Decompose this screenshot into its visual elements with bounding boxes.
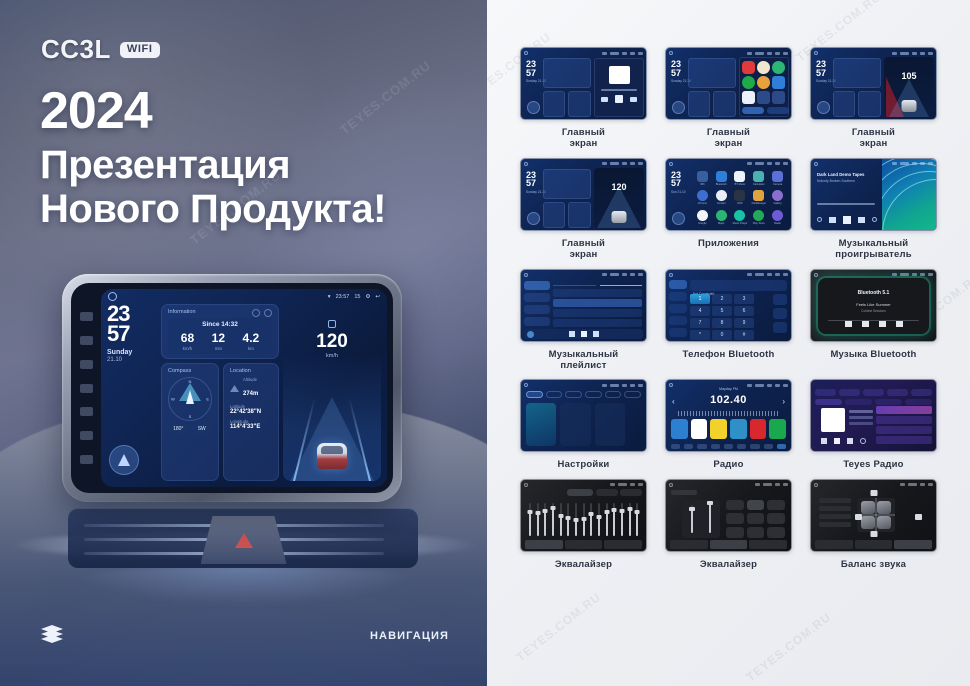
tab-recent[interactable] — [553, 279, 596, 286]
album-art — [821, 408, 845, 432]
head-unit-screen[interactable]: ▾ 23:57 15 ⚙ ↩ 23 57 Sunday 21.10 — [101, 289, 387, 487]
app-icon-youtube[interactable] — [742, 61, 755, 74]
speed-value: 105 — [884, 71, 934, 81]
app-item[interactable]: DSP — [734, 190, 745, 205]
gear-icon[interactable]: ⚙ — [365, 294, 370, 300]
thumbnail-bt-phone[interactable]: Not Connected 1 2 3 4 5 6 7 8 9 * 0 — [665, 269, 792, 342]
toolbar-list[interactable] — [711, 444, 720, 449]
eq-band[interactable] — [527, 499, 533, 538]
playlist-row[interactable] — [553, 319, 642, 327]
radio-station-name: Mayday FM — [666, 387, 791, 391]
tab-sound[interactable] — [565, 391, 582, 398]
navigation-fab[interactable] — [527, 101, 540, 114]
app-item[interactable]: Camera — [772, 171, 783, 186]
preset-classic[interactable] — [726, 513, 744, 524]
prev-icon[interactable] — [829, 217, 836, 223]
app-icon-equalizer[interactable] — [734, 190, 745, 201]
hud-icon — [328, 320, 336, 328]
lower-widgets-row: Compass N E S W — [161, 363, 279, 481]
thumbnail-home-drive-red[interactable]: 2357Sunday 21.10 105 — [810, 47, 937, 120]
dock-button-left[interactable] — [742, 107, 764, 114]
gallery-caption: Teyes Радио — [843, 459, 903, 470]
gallery-item[interactable]: Mayday FM 102.40 ‹ › — [656, 379, 801, 470]
app-item[interactable]: Contact — [716, 190, 727, 205]
toolbar-band[interactable] — [671, 444, 680, 449]
app-icon-google[interactable] — [697, 210, 708, 221]
next-icon[interactable] — [847, 438, 853, 444]
app-icon-chrome[interactable] — [697, 190, 708, 201]
navigation-fab[interactable] — [109, 445, 139, 475]
caption-line-2: экран — [562, 138, 605, 149]
gallery-item[interactable]: 2357Sunday 21.10 105 Главный экран — [801, 47, 946, 150]
gallery-item[interactable]: 2357Sunday 21.10 120 Главный экран — [511, 158, 656, 261]
tab-system[interactable] — [624, 391, 641, 398]
equalizer-mode-bar[interactable] — [815, 540, 932, 549]
toolbar-af[interactable] — [750, 444, 759, 449]
playlist-category-artists[interactable] — [524, 317, 550, 326]
eq-mode-eq[interactable] — [815, 540, 853, 549]
preset-tile[interactable] — [730, 419, 747, 439]
next-icon[interactable] — [896, 321, 903, 327]
preset-vocal[interactable] — [747, 513, 765, 524]
keypad-key[interactable]: 6 — [734, 306, 754, 316]
preset-tile[interactable] — [750, 419, 767, 439]
filter-pop[interactable] — [845, 399, 872, 405]
toolbar-active[interactable] — [777, 444, 786, 449]
repeat-icon[interactable] — [872, 217, 877, 222]
equalizer-mode-bar[interactable] — [525, 540, 642, 549]
hardkey-back[interactable] — [80, 407, 93, 416]
thumbnail-radio[interactable]: Mayday FM 102.40 ‹ › — [665, 379, 792, 452]
app-item[interactable]: Play Store — [753, 210, 765, 225]
preset-rock[interactable] — [747, 500, 765, 511]
app-drawer-grid[interactable]: Wifi Bluetooth BT Music Calculator Camer… — [694, 170, 786, 226]
eq-band[interactable] — [550, 499, 556, 538]
home-icon — [524, 483, 528, 487]
head-unit-side-keys[interactable] — [71, 289, 101, 487]
tab-categories[interactable] — [839, 389, 860, 396]
tab-display[interactable] — [546, 391, 563, 398]
balance-cabin-map[interactable] — [857, 498, 895, 532]
playlist-category-tracks[interactable] — [524, 281, 550, 290]
thumb-location-card — [858, 91, 881, 117]
toolbar-settings[interactable] — [764, 444, 773, 449]
keypad-key[interactable]: 9 — [734, 318, 754, 328]
gallery-caption: Главный экран — [852, 127, 895, 150]
caption-line-2: плейлист — [549, 360, 619, 371]
app-icon-maps[interactable] — [772, 61, 785, 74]
next-icon[interactable] — [630, 97, 637, 102]
hardkey-volume-up[interactable] — [80, 455, 93, 464]
hardkey-volume-down[interactable] — [80, 431, 93, 440]
app-item[interactable]: Maps — [716, 210, 727, 225]
home-icon — [669, 483, 673, 487]
navigation-fab[interactable] — [817, 101, 830, 114]
seat-front-left[interactable] — [861, 501, 875, 514]
thumbnail-equalizer-simple[interactable] — [665, 479, 792, 552]
app-icon-music-player[interactable] — [734, 210, 745, 221]
prev-icon[interactable] — [821, 438, 827, 444]
thumbnail-home-drive-blue[interactable]: 2357Sunday 21.10 120 — [520, 158, 647, 231]
settings-cards[interactable] — [526, 403, 641, 446]
thumbnail-equalizer-graphic[interactable] — [520, 479, 647, 552]
thumb-compass-card — [543, 91, 565, 117]
eq-mode-sub[interactable] — [565, 540, 603, 549]
gallery-caption: Главный экран — [562, 238, 605, 261]
gallery-item[interactable]: Настройки — [511, 379, 656, 470]
station-row[interactable] — [876, 406, 932, 414]
favorite-icon[interactable] — [773, 294, 787, 305]
tab-apps[interactable] — [585, 391, 602, 398]
bt-phone-sidebar[interactable] — [669, 280, 687, 337]
balance-preset-front[interactable] — [819, 506, 851, 511]
pause-icon[interactable] — [843, 216, 851, 224]
settings-card-traffic[interactable] — [560, 403, 590, 446]
app-icon-browser[interactable] — [757, 61, 770, 74]
preset-tile[interactable] — [769, 419, 786, 439]
teyes-radio-station-list[interactable] — [876, 406, 932, 446]
toolbar-rds[interactable] — [724, 444, 733, 449]
thumbnail-teyes-radio[interactable] — [810, 379, 937, 452]
playlist-now-playing-bar[interactable] — [524, 329, 643, 339]
app-item[interactable]: Gallery — [772, 190, 783, 205]
stop-icon[interactable] — [879, 321, 886, 327]
location-widget[interactable]: Location Altitude 274m — [223, 363, 279, 481]
preset-bass[interactable] — [767, 527, 785, 538]
tab-countries[interactable] — [887, 389, 908, 396]
app-item[interactable]: Bluetooth — [716, 171, 727, 186]
balance-preset-rear[interactable] — [819, 514, 851, 519]
sidebar-settings-icon[interactable] — [669, 328, 687, 337]
app-item[interactable]: FileManager — [752, 190, 766, 205]
tab-wlan[interactable] — [526, 391, 543, 398]
app-item[interactable]: Radio — [772, 210, 783, 225]
playlist-tabs[interactable] — [553, 279, 642, 286]
app-icon-camera[interactable] — [772, 171, 783, 182]
mountain-icon — [230, 385, 239, 392]
pause-icon[interactable] — [581, 331, 587, 337]
app-icon-calculator[interactable] — [753, 171, 764, 182]
hardkey-home[interactable] — [80, 384, 93, 393]
app-item[interactable]: BT Music — [734, 171, 745, 186]
stat-item: 68 km/h — [181, 332, 194, 351]
app-icon-bluetooth[interactable] — [716, 171, 727, 182]
headline-line-1: Презентация — [40, 143, 386, 188]
eq-mode-fade[interactable] — [604, 540, 642, 549]
keypad-key[interactable]: 4 — [690, 306, 710, 316]
balance-preset-all[interactable] — [819, 522, 851, 527]
settings-card-wlan[interactable] — [526, 403, 556, 446]
eq-band[interactable] — [558, 499, 564, 538]
app-icon-wifi[interactable] — [697, 171, 708, 182]
app-icon-phone[interactable] — [757, 91, 770, 104]
preset-pop[interactable] — [726, 500, 744, 511]
app-icon-spotify[interactable] — [742, 76, 755, 89]
eq-band[interactable] — [611, 499, 617, 538]
thumbnail-settings[interactable] — [520, 379, 647, 452]
toolbar-loc[interactable] — [697, 444, 706, 449]
tab-storage[interactable] — [605, 391, 622, 398]
settings-tabs[interactable] — [526, 391, 641, 398]
eq-mode-fade[interactable] — [894, 540, 932, 549]
eq-mode-eq[interactable] — [670, 540, 708, 549]
speed-value: 120 — [283, 332, 381, 351]
home-icon — [669, 51, 673, 55]
dial-keypad[interactable]: 1 2 3 4 5 6 7 8 9 * 0 # — [690, 294, 754, 340]
preset-tile[interactable] — [691, 419, 708, 439]
gallery-grid: 2357Sunday 21.10 Главный — [487, 47, 970, 570]
transport-controls[interactable] — [817, 216, 877, 224]
eq-band[interactable] — [581, 499, 587, 538]
location-longitude: Longitude 114°4'33"E — [230, 419, 272, 430]
thumb-progress — [601, 89, 637, 91]
hazard-light-button[interactable] — [201, 516, 287, 564]
play-pause-icon[interactable] — [862, 321, 869, 327]
favorite-icon[interactable] — [860, 438, 866, 444]
backspace-icon[interactable] — [773, 308, 787, 319]
gallery-item[interactable]: Not Connected 1 2 3 4 5 6 7 8 9 * 0 — [656, 269, 801, 372]
eq-preset-selector[interactable] — [567, 489, 593, 496]
bt-phone-actions[interactable] — [773, 294, 787, 333]
preset-custom[interactable] — [726, 527, 744, 538]
seat-rear-left[interactable] — [861, 516, 875, 529]
app-icon-bluetooth-music[interactable] — [734, 171, 745, 182]
eq-preset-reset[interactable] — [620, 489, 642, 496]
information-refresh-icon[interactable] — [252, 309, 260, 317]
app-item[interactable]: Google — [697, 210, 708, 225]
prev-icon[interactable] — [601, 97, 608, 102]
gallery-item[interactable]: Музыкальный плейлист — [511, 269, 656, 372]
prev-icon[interactable] — [845, 321, 852, 327]
eq-mode-fade[interactable] — [749, 540, 787, 549]
transport-controls[interactable] — [818, 321, 929, 327]
hardkey-prev[interactable] — [80, 312, 93, 321]
car-dashboard-illustration: ▾ 23:57 15 ⚙ ↩ 23 57 Sunday 21.10 — [0, 256, 487, 686]
prev-icon[interactable] — [569, 331, 575, 337]
preset-buttons[interactable] — [726, 500, 785, 538]
eq-band[interactable] — [588, 499, 594, 538]
balance-arrow-right[interactable] — [915, 514, 922, 520]
app-item[interactable]: Wifi — [697, 171, 708, 186]
product-logo: CC3L WIFI — [41, 34, 160, 65]
headline-block: 2024 Презентация Нового Продукта! — [40, 84, 386, 232]
product-model-text: CC3L — [41, 34, 111, 65]
balance-presets[interactable] — [819, 498, 851, 530]
keypad-key[interactable]: 2 — [712, 294, 732, 304]
thumb-info-card — [833, 58, 881, 88]
gallery-item[interactable]: Эквалайзер — [511, 479, 656, 570]
stop-icon[interactable] — [834, 438, 840, 444]
gallery-item[interactable]: 2357Sunday 21.10 — [656, 47, 801, 150]
app-item[interactable]: Music Player — [733, 210, 748, 225]
playlist-row[interactable] — [553, 309, 642, 317]
thumbnail-home-apps[interactable]: 2357Sunday 21.10 — [665, 47, 792, 120]
station-row[interactable] — [876, 436, 932, 444]
preset-tile[interactable] — [710, 419, 727, 439]
thumb-status-bar — [669, 482, 788, 488]
thumb-clock: 2357Sun 21.10 — [671, 171, 686, 194]
tab-active[interactable] — [600, 279, 643, 286]
sidebar-contacts-icon[interactable] — [669, 292, 687, 301]
app-item[interactable]: Calculator — [753, 171, 765, 186]
home-icon[interactable] — [108, 292, 117, 301]
eq-band[interactable] — [535, 499, 541, 538]
gallery-item[interactable]: Teyes Радио — [801, 379, 946, 470]
gallery-item[interactable]: Эквалайзер — [656, 479, 801, 570]
app-label: Music Player — [733, 222, 748, 225]
app-icon-contacts[interactable] — [716, 190, 727, 201]
next-icon[interactable] — [858, 217, 865, 223]
information-widget[interactable]: Information Since 14:32 — [161, 304, 279, 359]
transport-controls[interactable] — [821, 438, 866, 444]
eq-mode-eq[interactable] — [525, 540, 563, 549]
sidebar-search-icon[interactable] — [669, 304, 687, 313]
subwoofer-panel[interactable] — [682, 500, 720, 538]
eq-band[interactable] — [627, 499, 633, 538]
eq-band[interactable] — [573, 499, 579, 538]
radio-toolbar[interactable] — [671, 444, 786, 449]
compass-widget[interactable]: Compass N E S W — [161, 363, 219, 481]
eq-band[interactable] — [634, 499, 640, 538]
equalizer-faders[interactable] — [527, 499, 640, 538]
station-row[interactable] — [876, 426, 932, 434]
station-row[interactable] — [876, 416, 932, 424]
teyes-radio-filters[interactable] — [815, 399, 932, 405]
tab-home[interactable] — [815, 389, 836, 396]
hardkey-power[interactable] — [80, 360, 93, 369]
thumbnail-home-media[interactable]: 2357Sunday 21.10 — [520, 47, 647, 120]
preset-tile[interactable] — [671, 419, 688, 439]
caption-line-1: Баланс звука — [841, 559, 906, 570]
balance-arrow-left[interactable] — [855, 514, 862, 520]
next-station-icon[interactable]: › — [782, 397, 785, 406]
app-icon-play-store[interactable] — [742, 91, 755, 104]
equalizer-mode-bar[interactable] — [670, 540, 787, 549]
filter-all[interactable] — [815, 399, 842, 405]
app-icon-grid[interactable] — [772, 91, 785, 104]
radio-presets[interactable] — [671, 419, 786, 439]
stat-unit: km — [243, 346, 260, 351]
pause-icon[interactable] — [615, 95, 623, 103]
toolbar-ta[interactable] — [737, 444, 746, 449]
home-icon — [669, 273, 673, 277]
thumbnail-sound-balance[interactable] — [810, 479, 937, 552]
thumbnail-bt-music[interactable]: Bluetooth 5.1 Feels Like Summer Coldest … — [810, 269, 937, 342]
gallery-item[interactable]: Bluetooth 5.1 Feels Like Summer Coldest … — [801, 269, 946, 372]
seek-bar[interactable] — [817, 203, 875, 205]
thumb-status-bar — [814, 272, 933, 278]
seat-front-right[interactable] — [877, 501, 891, 514]
keypad-key[interactable]: 7 — [690, 318, 710, 328]
driving-widget[interactable]: 120 km/h — [283, 304, 381, 481]
gallery-item[interactable]: Баланс звука — [801, 479, 946, 570]
eq-mode-sub[interactable] — [855, 540, 893, 549]
tab-favorites[interactable] — [911, 389, 932, 396]
sidebar-history-icon[interactable] — [669, 316, 687, 325]
thumbnail-music-playlist[interactable] — [520, 269, 647, 342]
preset-jazz[interactable] — [767, 500, 785, 511]
eq-band[interactable] — [565, 499, 571, 538]
compass-dir-w: W — [171, 397, 175, 402]
playlist-track-rows[interactable] — [553, 289, 642, 328]
gallery-item[interactable]: 2357Sunday 21.10 Главный — [511, 47, 656, 150]
preset-dance[interactable] — [767, 513, 785, 524]
preset-flat[interactable] — [747, 527, 765, 538]
headline-line-2: Нового Продукта! — [40, 187, 386, 232]
navigation-fab[interactable] — [527, 212, 540, 225]
seat-rear-right[interactable] — [877, 516, 891, 529]
tab-genres[interactable] — [863, 389, 884, 396]
playlist-category-all[interactable] — [524, 293, 550, 302]
app-icon-gallery[interactable] — [772, 190, 783, 201]
eq-band[interactable] — [596, 499, 602, 538]
balance-preset-driver[interactable] — [819, 498, 851, 503]
hardkey-next[interactable] — [80, 336, 93, 345]
bt-music-card: Bluetooth 5.1 Feels Like Summer Coldest … — [818, 278, 929, 334]
radio-tuning-scale[interactable] — [678, 411, 779, 416]
app-icon-file-manager[interactable] — [753, 190, 764, 201]
eq-preset-save[interactable] — [596, 489, 618, 496]
app-icon-play-store[interactable] — [753, 210, 764, 221]
toolbar-search[interactable] — [684, 444, 693, 449]
album-art — [527, 331, 534, 338]
settings-card-more[interactable] — [595, 403, 625, 446]
filter-rock[interactable] — [905, 399, 932, 405]
keypad-key[interactable]: 3 — [734, 294, 754, 304]
thumbnail-music-player[interactable]: Dark Land Demo Tapes Nobody Broken South… — [810, 158, 937, 231]
eq-band[interactable] — [619, 499, 625, 538]
eq-band[interactable] — [604, 499, 610, 538]
app-icon-maps[interactable] — [716, 210, 727, 221]
playlist-row[interactable] — [553, 299, 642, 307]
balance-arrow-down[interactable] — [870, 531, 877, 537]
playlist-categories[interactable] — [524, 281, 550, 329]
teyes-radio-tabs[interactable] — [815, 389, 932, 396]
back-icon[interactable]: ↩ — [375, 294, 380, 300]
information-expand-icon[interactable] — [264, 309, 272, 317]
keypad-key[interactable]: 1 — [690, 294, 710, 304]
balance-arrow-up[interactable] — [870, 490, 877, 496]
sidebar-keypad-icon[interactable] — [669, 280, 687, 289]
prev-station-icon[interactable]: ‹ — [672, 397, 675, 406]
clock-date: 21.10 — [107, 357, 157, 363]
filter-news[interactable] — [875, 399, 902, 405]
app-item[interactable]: Chrome — [697, 190, 708, 205]
keypad-key[interactable]: # — [734, 330, 754, 340]
call-icon[interactable] — [773, 322, 787, 333]
gallery-item[interactable]: Dark Land Demo Tapes Nobody Broken South… — [801, 158, 946, 261]
shuffle-icon[interactable] — [817, 217, 822, 222]
keypad-key[interactable]: 0 — [712, 330, 732, 340]
next-icon[interactable] — [593, 331, 599, 337]
gallery-caption: Эквалайзер — [555, 559, 612, 570]
gallery-item[interactable]: 2357Sun 21.10 Wifi Bluetooth BT Music Ca… — [656, 158, 801, 261]
eq-band[interactable] — [542, 499, 548, 538]
keypad-key[interactable]: 8 — [712, 318, 732, 328]
app-icon-radio[interactable] — [772, 210, 783, 221]
navigation-fab[interactable] — [672, 101, 685, 114]
thumbnail-apps[interactable]: 2357Sun 21.10 Wifi Bluetooth BT Music Ca… — [665, 158, 792, 231]
playlist-category-favorites[interactable] — [524, 305, 550, 314]
eq-mode-sub[interactable] — [710, 540, 748, 549]
playlist-row[interactable] — [553, 289, 642, 297]
keypad-key[interactable]: * — [690, 330, 710, 340]
dock-button-right[interactable] — [767, 107, 789, 114]
keypad-key[interactable]: 5 — [712, 306, 732, 316]
app-icon-gallery[interactable] — [757, 76, 770, 89]
app-icon-settings[interactable] — [772, 76, 785, 89]
back-fab[interactable] — [672, 212, 685, 225]
